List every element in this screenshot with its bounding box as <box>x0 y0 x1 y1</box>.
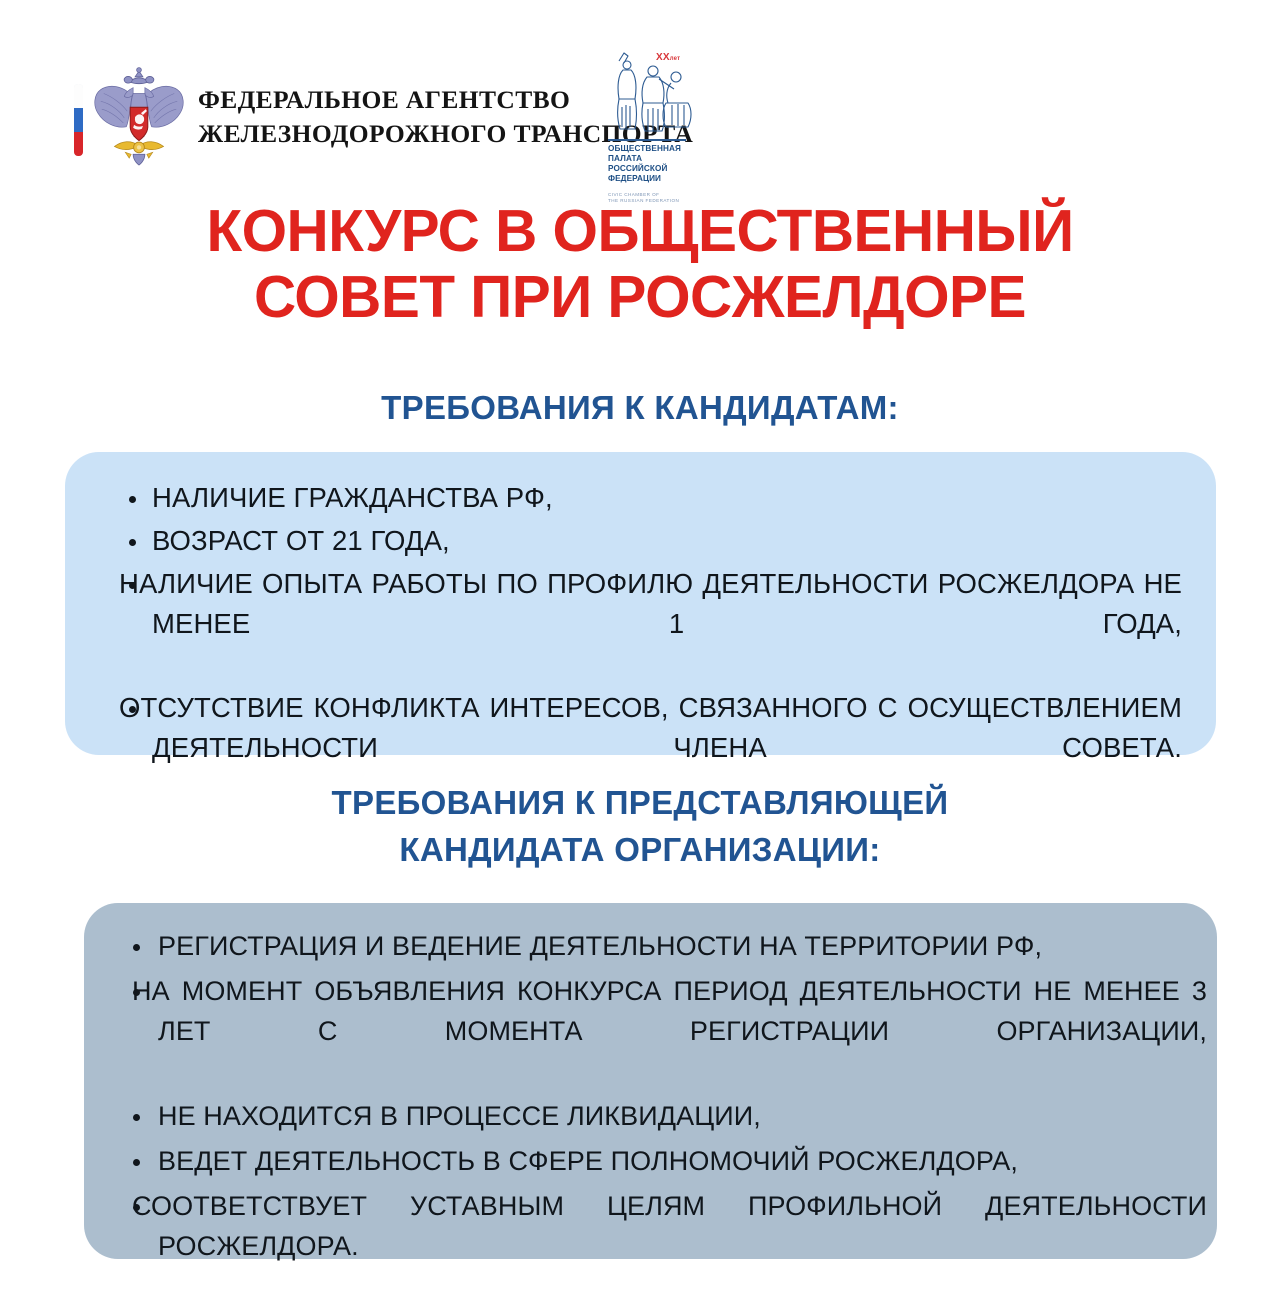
anniversary-number: XX <box>656 52 670 63</box>
list-item-text: ВОЗРАСТ ОТ 21 ГОДА, <box>152 521 1182 561</box>
list-item: ВЕДЕТ ДЕЯТЕЛЬНОСТЬ В СФЕРЕ ПОЛНОМОЧИЙ РО… <box>106 1142 1207 1182</box>
list-item: НАЛИЧИЕ ГРАЖДАНСТВА РФ, <box>97 478 1182 518</box>
list-item-text: НЕ НАХОДИТСЯ В ПРОЦЕССЕ ЛИКВИДАЦИИ, <box>158 1097 1207 1137</box>
russian-federation-coat-of-arms-rail-emblem-icon <box>70 62 188 172</box>
russian-flag-icon <box>74 84 83 156</box>
list-item-text: СООТВЕТСТВУЕТ УСТАВНЫМ ЦЕЛЯМ ПРОФИЛЬНОЙ … <box>132 1187 1207 1307</box>
divider <box>608 139 686 141</box>
requirements-box-organization: РЕГИСТРАЦИЯ И ВЕДЕНИЕ ДЕЯТЕЛЬНОСТИ НА ТЕ… <box>84 903 1217 1259</box>
civic-chamber-name-line-4: ФЕДЕРАЦИИ <box>608 174 694 184</box>
civic-chamber-logo: XXлет ОБЩЕСТВЕННАЯ ПАЛАТА РОССИЙСКОЙ ФЕД… <box>600 45 700 185</box>
civic-chamber-name-line-3: РОССИЙСКОЙ <box>608 164 694 174</box>
header: ФЕДЕРАЛЬНОЕ АГЕНТСТВО ЖЕЛЕЗНОДОРОЖНОГО Т… <box>0 0 1280 195</box>
section-heading-organization-line-1: ТРЕБОВАНИЯ К ПРЕДСТАВЛЯЮЩЕЙ <box>0 780 1280 827</box>
section-heading-organization-line-2: КАНДИДАТА ОРГАНИЗАЦИИ: <box>0 827 1280 874</box>
civic-chamber-name-line-2: ПАЛАТА <box>608 154 694 164</box>
civic-chamber-name: ОБЩЕСТВЕННАЯ ПАЛАТА РОССИЙСКОЙ ФЕДЕРАЦИИ <box>608 144 694 184</box>
list-item-text: НАЛИЧИЕ ГРАЖДАНСТВА РФ, <box>152 478 1182 518</box>
requirements-list-candidates: НАЛИЧИЕ ГРАЖДАНСТВА РФ, ВОЗРАСТ ОТ 21 ГО… <box>97 478 1182 808</box>
list-item-text: РЕГИСТРАЦИЯ И ВЕДЕНИЕ ДЕЯТЕЛЬНОСТИ НА ТЕ… <box>158 927 1207 967</box>
anniversary-badge: XXлет <box>656 52 680 63</box>
page-title: КОНКУРС В ОБЩЕСТВЕННЫЙ СОВЕТ ПРИ РОСЖЕЛД… <box>6 198 1273 330</box>
section-heading-candidates: ТРЕБОВАНИЯ К КАНДИДАТАМ: <box>0 385 1280 432</box>
anniversary-suffix: лет <box>670 56 681 62</box>
section-heading-organization: ТРЕБОВАНИЯ К ПРЕДСТАВЛЯЮЩЕЙ КАНДИДАТА ОР… <box>0 780 1280 874</box>
list-item-text: ВЕДЕТ ДЕЯТЕЛЬНОСТЬ В СФЕРЕ ПОЛНОМОЧИЙ РО… <box>158 1142 1207 1182</box>
section-heading-candidates-line-1: ТРЕБОВАНИЯ К КАНДИДАТАМ: <box>0 385 1280 432</box>
list-item: НАЛИЧИЕ ОПЫТА РАБОТЫ ПО ПРОФИЛЮ ДЕЯТЕЛЬН… <box>97 564 1182 684</box>
requirements-list-organization: РЕГИСТРАЦИЯ И ВЕДЕНИЕ ДЕЯТЕЛЬНОСТИ НА ТЕ… <box>106 927 1207 1307</box>
list-item-text: НА МОМЕНТ ОБЪЯВЛЕНИЯ КОНКУРСА ПЕРИОД ДЕЯ… <box>132 972 1207 1092</box>
civic-chamber-emblem-icon <box>604 47 696 135</box>
civic-chamber-name-line-1: ОБЩЕСТВЕННАЯ <box>608 144 694 154</box>
page-title-line-1: КОНКУРС В ОБЩЕСТВЕННЫЙ <box>6 198 1273 264</box>
list-item: НЕ НАХОДИТСЯ В ПРОЦЕССЕ ЛИКВИДАЦИИ, <box>106 1097 1207 1137</box>
page-title-line-2: СОВЕТ ПРИ РОСЖЕЛДОРЕ <box>6 264 1273 330</box>
list-item-text: НАЛИЧИЕ ОПЫТА РАБОТЫ ПО ПРОФИЛЮ ДЕЯТЕЛЬН… <box>119 564 1182 684</box>
list-item: НА МОМЕНТ ОБЪЯВЛЕНИЯ КОНКУРСА ПЕРИОД ДЕЯ… <box>106 972 1207 1092</box>
requirements-box-candidates: НАЛИЧИЕ ГРАЖДАНСТВА РФ, ВОЗРАСТ ОТ 21 ГО… <box>65 452 1216 755</box>
list-item: РЕГИСТРАЦИЯ И ВЕДЕНИЕ ДЕЯТЕЛЬНОСТИ НА ТЕ… <box>106 927 1207 967</box>
list-item: ВОЗРАСТ ОТ 21 ГОДА, <box>97 521 1182 561</box>
list-item: СООТВЕТСТВУЕТ УСТАВНЫМ ЦЕЛЯМ ПРОФИЛЬНОЙ … <box>106 1187 1207 1307</box>
